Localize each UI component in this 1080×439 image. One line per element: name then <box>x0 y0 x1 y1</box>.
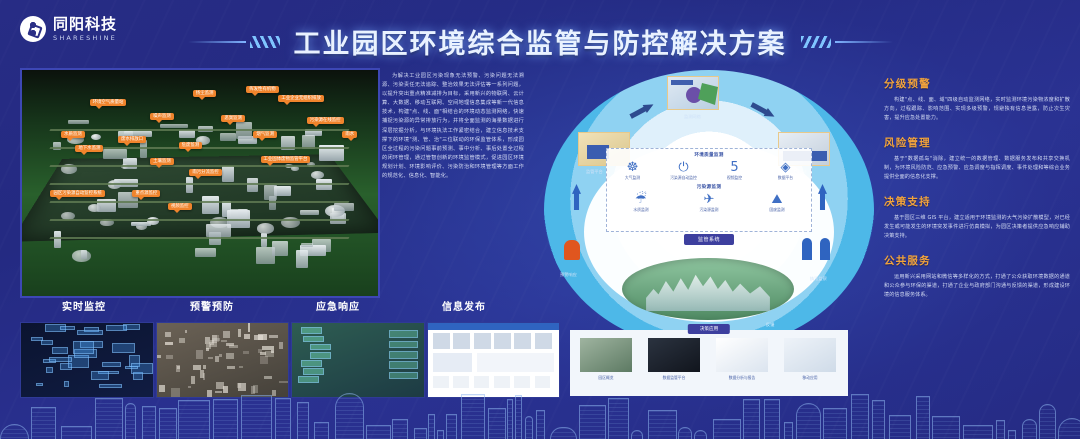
aerial-block <box>205 337 210 345</box>
terrain-panel-item <box>301 327 322 334</box>
skyline-building <box>488 408 506 439</box>
aerial-block <box>244 334 251 339</box>
park-building <box>81 250 87 260</box>
cell-data-center[interactable]: 数据监管平台 <box>648 338 700 381</box>
park-tank <box>91 134 101 140</box>
group1-title: 环境质量监测 <box>607 152 811 158</box>
label-enforcement: 执法监察 <box>810 276 827 282</box>
terrain-panel-item <box>298 376 319 383</box>
park-building <box>274 186 291 196</box>
layers-data-item: ◈数据平台 <box>766 160 806 181</box>
aerial-block <box>212 335 217 344</box>
skyline-building <box>823 408 847 439</box>
portal-stat <box>494 376 510 388</box>
terrain-panel-item <box>310 344 331 351</box>
park-tag: 环境空气质量站 <box>90 99 127 106</box>
industrial-park-3d-map: 环境空气质量站扬尘监测挥发性有机物工业企业无组织排放噪声监测恶臭监测污染源在线监… <box>20 68 380 298</box>
dashboard-card <box>102 362 121 367</box>
shot-3d-park-aerial[interactable] <box>156 322 290 398</box>
page-title: 工业园区环境综合监管与防控解决方案 <box>294 22 787 61</box>
strip-label-0: 实时监控 <box>62 298 106 313</box>
poster-root: 同阳科技 SHARESHINE 工业园区环境综合监管与防控解决方案 环境空气质量… <box>0 0 1080 439</box>
terrain-side-item <box>389 372 418 379</box>
label-alert: 预警响应 <box>560 272 577 278</box>
skyline-building <box>1039 404 1056 439</box>
icon-caption: 水质监测 <box>621 207 661 213</box>
dashboard-card <box>46 367 52 373</box>
aerial-block <box>157 355 161 359</box>
dashboard-card <box>49 357 72 362</box>
waste-pile-icon: ⛰ <box>757 192 797 207</box>
skyline-building <box>1058 418 1080 439</box>
portal-stat <box>535 376 551 388</box>
park-tag: 危废监测 <box>179 142 203 149</box>
park-road <box>50 237 350 239</box>
park-building <box>300 210 319 215</box>
skyline-building <box>142 406 156 439</box>
dashboard-card <box>36 383 43 386</box>
aerial-block <box>191 376 195 384</box>
park-building <box>222 166 235 182</box>
strip-label-1: 预警预防 <box>190 298 234 313</box>
cell-report-caption: 数据分析与报告 <box>716 375 768 381</box>
park-tag: 园区污染源自动监控系统 <box>50 190 104 197</box>
skyline-building <box>428 414 435 439</box>
skyline-building <box>366 425 390 439</box>
park-globe-illustration <box>622 258 794 320</box>
skyline-building <box>507 399 513 439</box>
aerial-block <box>265 351 274 357</box>
node-map-label: 监测网络 <box>684 114 701 120</box>
park-tag: 恶臭监测 <box>221 115 245 122</box>
skyline-building <box>579 405 605 439</box>
skyline-building <box>178 400 210 439</box>
terrain-side-item <box>389 351 418 358</box>
aerial-block <box>196 350 203 359</box>
dashboard-card <box>112 343 135 354</box>
aerial-block <box>185 330 187 334</box>
aerial-block <box>238 329 241 337</box>
park-road <box>50 201 350 203</box>
title-row: 工业园区环境综合监管与防控解决方案 <box>0 22 1080 61</box>
portal-thumb <box>535 333 552 349</box>
dashboard-card <box>77 330 103 335</box>
dashboard-card <box>41 340 53 345</box>
feature-public-service: 公共服务运用新兴采用网站和微信等多样化的方式，打通了公众获取环境数据的通道和公众… <box>884 253 1070 300</box>
portal-stat <box>453 376 469 388</box>
terrain-panel-item <box>303 336 324 343</box>
cell-park-view[interactable]: 园区概览 <box>580 338 632 381</box>
portal-panel-right <box>477 353 553 372</box>
park-building <box>103 149 127 159</box>
park-building <box>220 133 236 141</box>
skyline-building <box>61 426 92 439</box>
feature-decision-support-body: 基于园区三维 GIS 平台，建立适用于环境监测的大气污染扩散模型，对已经发生或可… <box>884 214 1070 241</box>
park-road <box>50 183 350 185</box>
monitor-screen-item: ὚5视频监控 <box>715 160 755 181</box>
park-building <box>236 122 252 139</box>
skyline-building <box>159 408 177 439</box>
shot-green-terrain[interactable] <box>291 322 425 398</box>
portal-thumb <box>453 333 470 349</box>
aerial-block <box>253 385 258 393</box>
skyline-building <box>889 415 911 439</box>
skyline-building <box>1008 430 1017 439</box>
cell-park-view-thumb <box>580 338 632 372</box>
park-tag: 扬尘监测 <box>193 90 217 97</box>
terrain-side-item <box>389 330 418 337</box>
park-road <box>50 165 350 167</box>
park-building <box>264 185 276 200</box>
dashboard-card <box>106 325 127 331</box>
node-office-label: 监管平台 <box>586 169 603 175</box>
skyline-building <box>31 407 56 439</box>
dashboard-card <box>60 326 75 331</box>
aerial-block <box>203 365 206 369</box>
skyline-building <box>414 428 427 439</box>
power-control-icon: ⏻ <box>664 160 704 175</box>
skyline-building <box>515 395 522 439</box>
water-drop-icon: ☔ <box>621 192 661 207</box>
feature-decision-support: 决策支持基于园区三维 GIS 平台，建立适用于环境监测的大气污染扩散模型，对已经… <box>884 194 1070 241</box>
alert-siren-icon <box>564 240 580 260</box>
terrain-side-item <box>389 341 418 348</box>
park-building <box>68 120 89 124</box>
park-building <box>186 177 193 194</box>
feature-graded-warning-body: 构建"点、线、面、域"四级自动监测网络，实时监测环境污染物浓度和扩散方向，过程跟… <box>884 96 1070 123</box>
park-tag: 视频监控 <box>168 203 192 210</box>
inspector-figure-2-icon <box>820 238 830 260</box>
feature-risk-management: 风险管理基于"数据孤岛"消除，建立统一的数据管理、数据服务发布和共享交换机制，为… <box>884 135 1070 182</box>
water-drop-item: ☔水质监测 <box>621 192 661 213</box>
park-tank <box>311 171 324 179</box>
skyline-building <box>392 419 408 439</box>
skyline-building <box>446 414 457 439</box>
dashboard-card <box>91 371 109 379</box>
aerial-block <box>260 356 268 364</box>
aerial-block <box>237 383 241 387</box>
cell-report[interactable]: 数据分析与报告 <box>716 338 768 381</box>
park-building <box>296 250 308 268</box>
slash-deco-left-icon <box>188 36 280 48</box>
park-building <box>238 209 248 226</box>
skyline-building <box>125 403 136 439</box>
terrain-panel-item <box>301 360 322 367</box>
aerial-block <box>203 373 205 380</box>
aerial-block <box>177 366 180 369</box>
aerial-block <box>229 345 238 348</box>
skyline-building <box>0 424 29 439</box>
park-tag: 雨水 <box>342 131 357 138</box>
arrow-feedback-label: 反馈 <box>766 322 774 328</box>
skyline-building <box>213 399 237 439</box>
skyline-building <box>851 394 869 439</box>
aerial-block <box>215 356 219 363</box>
park-tag: 烟气监测 <box>253 131 277 138</box>
park-building <box>202 196 220 214</box>
skyline-building <box>764 399 781 439</box>
cell-mobile-app-caption: 移动应用 <box>784 375 836 381</box>
power-control-item: ⏻污染源自动监控 <box>664 160 704 181</box>
skyline-building <box>796 403 821 439</box>
park-tag: 重点源监控 <box>132 190 160 197</box>
portal-panel-left <box>433 353 472 372</box>
bottom-badge: 决策应用 <box>688 324 730 334</box>
icon-caption: 大气监测 <box>613 175 653 181</box>
skyline-building <box>713 419 740 439</box>
portal-stat <box>474 376 490 388</box>
slash-deco-right-icon <box>801 36 893 48</box>
factory-stack-icon: ✈ <box>689 192 729 207</box>
skyline-building <box>275 398 291 439</box>
portal-thumb <box>494 333 511 349</box>
park-tank <box>257 223 274 233</box>
terrain-panel-item <box>303 368 324 375</box>
globe-city-silhouette <box>646 267 770 312</box>
intro-text: 为解决工业园区污染现象无法预警、污染问题无法溯源、污染责任无法追踪、整治效果无法… <box>382 72 524 181</box>
node-map-bar <box>671 80 693 85</box>
skyline-building <box>525 416 533 439</box>
cell-data-center-thumb <box>648 338 700 372</box>
park-building <box>272 241 287 256</box>
skyline-building <box>461 394 485 439</box>
skyline-building <box>631 430 643 439</box>
aerial-block <box>208 357 213 359</box>
feature-public-service-title: 公共服务 <box>884 253 1070 268</box>
dashboard-card <box>99 384 122 388</box>
park-tag: 挥发性有机物 <box>246 86 278 93</box>
aerial-block <box>264 376 272 379</box>
center-badge: 监管系统 <box>684 234 734 245</box>
aerial-block <box>262 346 271 350</box>
screenshot-strip <box>20 322 560 398</box>
aerial-block <box>239 366 243 368</box>
strip-label-3: 信息发布 <box>442 298 486 313</box>
cloud-analysis-icon: ☸ <box>613 160 653 175</box>
portal-thumb <box>514 333 531 349</box>
icon-caption: 固废监测 <box>757 207 797 213</box>
terrain-side-item <box>389 361 418 368</box>
dashboard-card <box>52 347 68 354</box>
cell-park-view-caption: 园区概览 <box>580 375 632 381</box>
park-tag: 废水排放口 <box>118 136 146 143</box>
feature-list: 分级预警构建"点、线、面、域"四级自动监测网络，实时监测环境污染物浓度和扩散方向… <box>884 76 1070 312</box>
feature-graded-warning-title: 分级预警 <box>884 76 1070 91</box>
aerial-block <box>165 332 171 337</box>
aerial-block <box>165 342 173 345</box>
portal-thumb <box>474 333 491 349</box>
park-road <box>50 129 350 131</box>
feature-graded-warning: 分级预警构建"点、线、面、域"四级自动监测网络，实时监测环境污染物浓度和扩散方向… <box>884 76 1070 123</box>
park-building <box>334 203 355 211</box>
dashboard-card <box>64 381 69 387</box>
icon-caption: 污染源自动监控 <box>664 175 704 181</box>
skyline-building <box>1022 419 1037 439</box>
skyline-building <box>743 399 760 439</box>
skyline-building <box>241 395 272 439</box>
cell-mobile-app-thumb <box>784 338 836 372</box>
aerial-block <box>188 386 191 388</box>
skyline-building <box>437 430 445 439</box>
aerial-block <box>166 355 173 359</box>
park-building <box>195 248 216 256</box>
terrain-panel-item <box>310 352 331 359</box>
aerial-block <box>248 323 251 331</box>
skyline-building <box>335 393 364 439</box>
cell-report-thumb <box>716 338 768 372</box>
cloud-analysis-item: ☸大气监测 <box>613 160 653 181</box>
factory-stack-item: ✈污染源监测 <box>689 192 729 213</box>
cell-data-center-caption: 数据监管平台 <box>648 375 700 381</box>
park-tag: 土壤监测 <box>150 158 174 165</box>
strip-label-2: 应急响应 <box>316 298 360 313</box>
park-tag: 污染源在线监控 <box>307 117 344 124</box>
skyline-building <box>784 422 793 439</box>
park-road <box>50 219 350 221</box>
park-tag: 噪声监测 <box>150 113 174 120</box>
monitoring-capability-panel: 环境质量监测 ☸大气监测⏻污染源自动监控὚5视频监控◈数据平台 污染源监测 ☔水… <box>606 148 812 232</box>
dashboard-card <box>73 341 95 354</box>
portal-stat <box>433 376 449 388</box>
waste-pile-item: ⛰固废监测 <box>757 192 797 213</box>
shot-dark-dashboard[interactable] <box>20 322 154 398</box>
shot-web-portal[interactable] <box>427 322 561 398</box>
park-tag: 地下水监测 <box>75 145 103 152</box>
group2-title: 污染源监测 <box>607 184 811 190</box>
skyline-building <box>536 410 544 439</box>
aerial-block <box>269 335 278 338</box>
intro-paragraph: 为解决工业园区污染现象无法预警、污染问题无法溯源、污染责任无法追踪、整治效果无法… <box>382 72 524 294</box>
layers-data-icon: ◈ <box>766 160 806 175</box>
skyline-building <box>932 416 960 439</box>
skyline-building <box>648 410 677 439</box>
park-tank <box>291 166 299 171</box>
park-building <box>247 178 258 191</box>
skyline-building <box>550 427 577 439</box>
monitor-screen-icon: ὚5 <box>715 160 755 175</box>
skyline-building <box>963 425 993 439</box>
park-tag: 水质监测 <box>61 131 85 138</box>
skyline-building <box>608 398 629 439</box>
feature-decision-support-title: 决策支持 <box>884 194 1070 209</box>
park-tag: 雨污分流监控 <box>189 169 221 176</box>
aerial-block <box>159 385 164 392</box>
park-building <box>261 233 268 247</box>
city-skyline-decoration <box>0 393 1080 439</box>
aerial-block <box>221 340 226 342</box>
park-building <box>179 130 195 138</box>
portal-thumb <box>433 333 450 349</box>
feature-risk-management-title: 风险管理 <box>884 135 1070 150</box>
node-map-card <box>667 76 719 110</box>
aerial-block <box>254 335 262 340</box>
aerial-block <box>219 354 221 357</box>
skyline-building <box>694 430 707 439</box>
feature-public-service-body: 运用新兴采用网站和微信等多样化的方式，打通了公众获取环境数据的通道和公众参与环保… <box>884 273 1070 300</box>
skyline-building <box>872 400 885 439</box>
park-tank <box>88 204 101 212</box>
park-tag: 工业固体废物监管平台 <box>261 156 311 163</box>
system-architecture-diagram: 监测网络 监管平台 联动执法 反馈 预警响应 执法监察 环境质量监测 ☸大气监 <box>534 62 884 402</box>
aerial-block <box>179 338 184 343</box>
park-building <box>301 243 313 247</box>
aerial-block <box>279 342 283 350</box>
skyline-building <box>678 427 691 439</box>
aerial-block <box>223 331 230 338</box>
icon-caption: 视频监控 <box>715 175 755 181</box>
skyline-building <box>314 422 330 439</box>
icon-caption: 污染源监测 <box>689 207 729 213</box>
skyline-building <box>297 402 309 439</box>
park-building <box>54 231 61 248</box>
aerial-block <box>243 351 249 354</box>
portal-stat <box>514 376 530 388</box>
aerial-block <box>227 366 235 369</box>
portal-header <box>428 323 560 330</box>
aerial-block <box>279 381 287 383</box>
icon-caption: 数据平台 <box>766 175 806 181</box>
decision-application-panel: 园区概览数据监管平台数据分析与报告移动应用 <box>570 330 848 396</box>
feature-risk-management-body: 基于"数据孤岛"消除，建立统一的数据管理、数据服务发布和共享交换机制，为环境风险… <box>884 155 1070 182</box>
park-building <box>160 124 188 129</box>
skyline-building <box>95 398 123 439</box>
dashboard-card <box>125 366 137 369</box>
aerial-block <box>226 353 235 360</box>
strip-label-row: 实时监控预警预防应急响应信息发布 <box>20 298 560 320</box>
skyline-building <box>996 420 1006 439</box>
inspector-figure-1-icon <box>802 238 812 260</box>
poster-header: 同阳科技 SHARESHINE 工业园区环境综合监管与防控解决方案 <box>0 0 1080 68</box>
park-building <box>206 224 230 237</box>
icon-row-2: ☔水质监测✈污染源监测⛰固废监测 <box>607 192 811 213</box>
park-tag: 工业企业无组织排放 <box>278 95 324 102</box>
cell-mobile-app[interactable]: 移动应用 <box>784 338 836 381</box>
skyline-building <box>916 396 930 439</box>
icon-row-1: ☸大气监测⏻污染源自动监控὚5视频监控◈数据平台 <box>607 160 811 181</box>
